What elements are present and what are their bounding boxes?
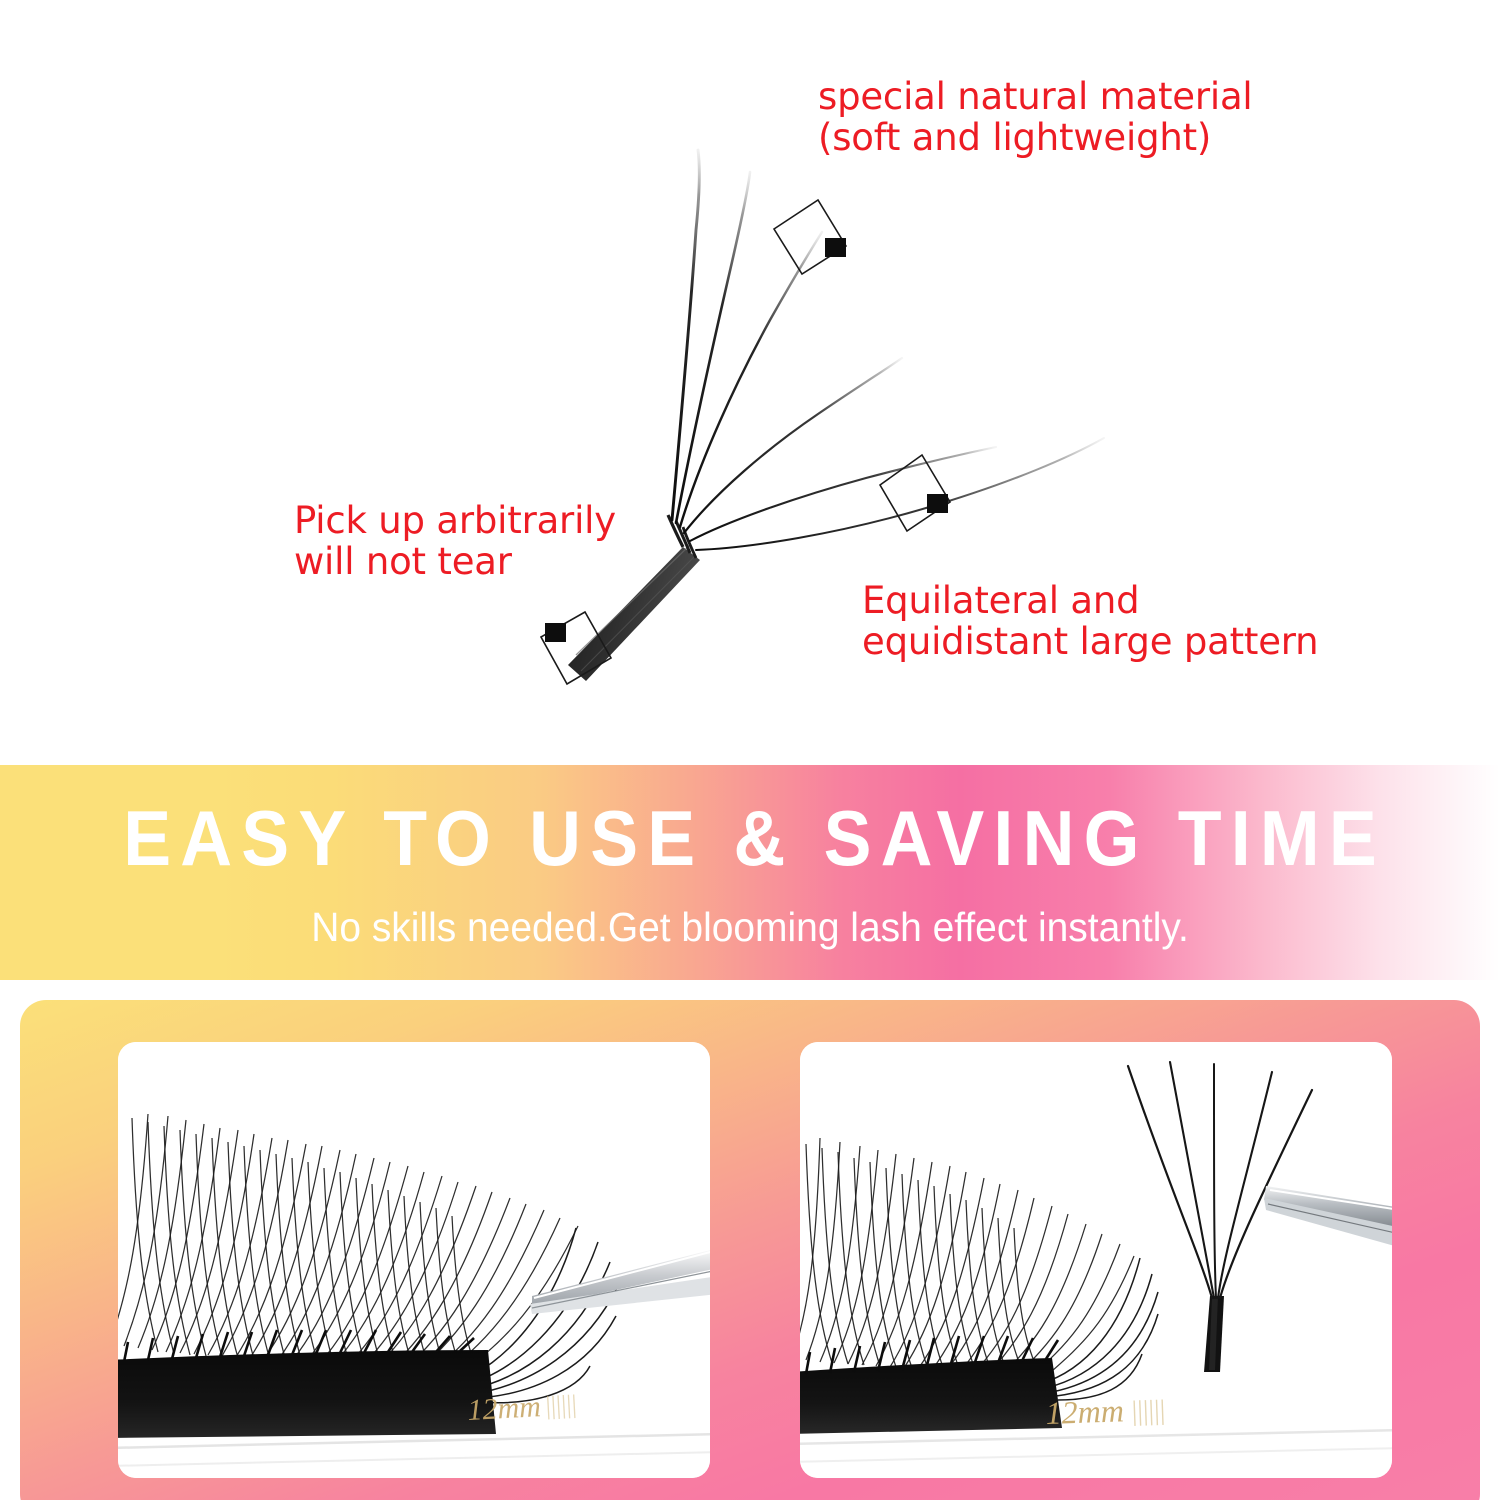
callout-equilateral-equidistant: Equilateral and equidistant large patter… [862,580,1318,663]
svg-text:||||||: |||||| [1131,1395,1166,1427]
banner-subheadline: No skills needed.Get blooming lash effec… [38,907,1463,948]
callout-special-natural-material: special natural material (soft and light… [818,76,1253,159]
photo-panel-lash-tray-with-tweezer: 12mm |||||| [118,1042,710,1478]
callout-pick-up-arbitrarily: Pick up arbitrarily will not tear [294,500,616,583]
easy-to-use-banner: EASY TO USE & SAVING TIME No skills need… [0,765,1500,980]
strip-size-label-left: 12mm [467,1390,542,1427]
lash-fan-feature-diagram: special natural material (soft and light… [0,0,1500,765]
photo-panel-single-fan-lifted: 12mm |||||| [800,1042,1392,1478]
product-photo-frame: 12mm |||||| [20,1000,1480,1500]
single-fan-lift-photo: 12mm |||||| [800,1042,1392,1478]
callout-marker-top [774,200,846,274]
lash-filaments [672,150,1104,550]
banner-headline: EASY TO USE & SAVING TIME [60,799,1440,877]
lash-tray-photo: 12mm |||||| [118,1042,710,1478]
svg-text:||||||: |||||| [545,1389,578,1420]
product-feature-page: special natural material (soft and light… [0,0,1500,1500]
strip-size-label-right: 12mm [1045,1392,1124,1431]
